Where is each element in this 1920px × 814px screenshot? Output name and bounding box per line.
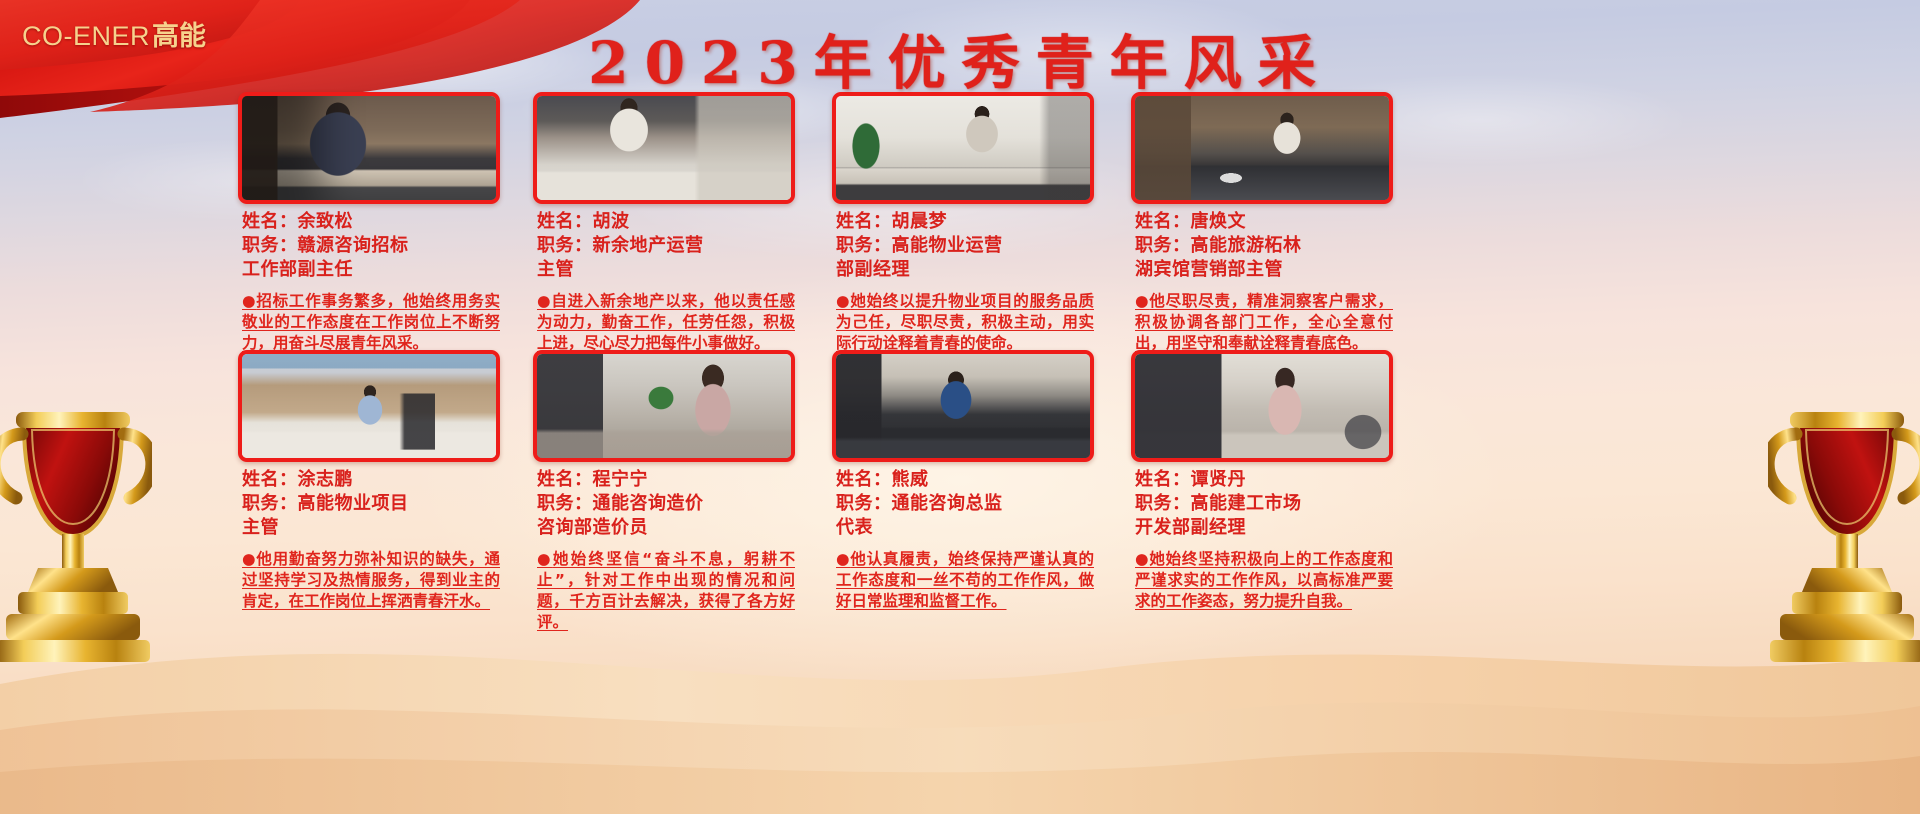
label-name-8: 姓名： — [1135, 469, 1191, 490]
profile-photo-2 — [533, 92, 795, 204]
page-title: 2023年优秀青年风采 — [470, 16, 1450, 100]
value-name-2: 胡波 — [593, 211, 630, 232]
profile-name-line-1: 姓名：余致松 — [242, 210, 500, 234]
profile-photo-8 — [1131, 350, 1393, 462]
profile-position-line-7b: 代表 — [836, 516, 1094, 540]
bullet-8: ● — [1135, 550, 1149, 568]
profile-description-text-7: 他认真履责，始终保持严谨认真的工作态度和一丝不苟的工作作风，做好日常监理和监督工… — [836, 550, 1094, 610]
value-name-6: 程宁宁 — [593, 469, 649, 490]
value-name-3: 胡晨梦 — [892, 211, 948, 232]
value-position-4a: 高能旅游柘林 — [1191, 235, 1302, 256]
profile-description-text-6: 她始终坚信“奋斗不息，躬耕不止”，针对工作中出现的情况和问题，千方百计去解决，获… — [537, 550, 795, 631]
profile-card-1[interactable]: 姓名：余致松 职务：赣源咨询招标 工作部副主任 ●招标工作事务繁多，他始终用务实… — [238, 92, 500, 354]
label-name-1: 姓名： — [242, 211, 298, 232]
profile-card-5[interactable]: 姓名：涂志鹏 职务：高能物业项目 主管 ●他用勤奋努力弥补知识的缺失，通过坚持学… — [238, 350, 500, 612]
profile-position-line-2a: 职务：新余地产运营 — [537, 234, 795, 258]
profile-description-2: ●自进入新余地产以来，他以责任感为动力，勤奋工作，任劳任怨，积极上进，尽心尽力把… — [533, 291, 795, 354]
profile-name-line-6: 姓名：程宁宁 — [537, 468, 795, 492]
profile-photo-3 — [832, 92, 1094, 204]
label-position-5: 职务： — [242, 493, 298, 514]
value-position-7a: 通能咨询总监 — [892, 493, 1003, 514]
label-name-7: 姓名： — [836, 469, 892, 490]
profile-description-4: ●他尽职尽责，精准洞察客户需求，积极协调各部门工作，全心全意付出，用坚守和奉献诠… — [1131, 291, 1393, 354]
value-name-7: 熊威 — [892, 469, 929, 490]
profile-photo-5 — [238, 350, 500, 462]
brand-logo-cn: 高能 — [152, 21, 206, 51]
profile-description-text-2: 自进入新余地产以来，他以责任感为动力，勤奋工作，任劳任怨，积极上进，尽心尽力把每… — [537, 292, 795, 352]
brand-logo: CO-ENER高能 — [22, 14, 206, 53]
profile-name-line-2: 姓名：胡波 — [537, 210, 795, 234]
profile-name-line-7: 姓名：熊威 — [836, 468, 1094, 492]
profile-description-6: ●她始终坚信“奋斗不息，躬耕不止”，针对工作中出现的情况和问题，千方百计去解决，… — [533, 549, 795, 633]
profile-position-line-4b: 湖宾馆营销部主管 — [1135, 258, 1393, 282]
profile-description-text-3: 她始终以提升物业项目的服务品质为己任，尽职尽责，积极主动，用实际行动诠释着青春的… — [836, 292, 1094, 352]
label-position-6: 职务： — [537, 493, 593, 514]
label-name-3: 姓名： — [836, 211, 892, 232]
profile-description-text-5: 他用勤奋努力弥补知识的缺失，通过坚持学习及热情服务，得到业主的肯定，在工作岗位上… — [242, 550, 500, 610]
profile-description-3: ●她始终以提升物业项目的服务品质为己任，尽职尽责，积极主动，用实际行动诠释着青春… — [832, 291, 1094, 354]
profile-position-line-3a: 职务：高能物业运营 — [836, 234, 1094, 258]
profile-photo-6 — [533, 350, 795, 462]
label-position-2: 职务： — [537, 235, 593, 256]
profile-description-text-4: 他尽职尽责，精准洞察客户需求，积极协调各部门工作，全心全意付出，用坚守和奉献诠释… — [1135, 292, 1393, 352]
value-position-8a: 高能建工市场 — [1191, 493, 1302, 514]
brand-logo-latin: CO-ENER — [22, 21, 150, 51]
label-position-3: 职务： — [836, 235, 892, 256]
profile-card-2[interactable]: 姓名：胡波 职务：新余地产运营 主管 ●自进入新余地产以来，他以责任感为动力，勤… — [533, 92, 795, 354]
label-position-1: 职务： — [242, 235, 298, 256]
bullet-3: ● — [836, 292, 850, 310]
profile-photo-7 — [832, 350, 1094, 462]
profile-description-8: ●她始终坚持积极向上的工作态度和严谨求实的工作作风，以高标准严要求的工作姿态，努… — [1131, 549, 1393, 612]
label-name-6: 姓名： — [537, 469, 593, 490]
profile-card-6[interactable]: 姓名：程宁宁 职务：通能咨询造价 咨询部造价员 ●她始终坚信“奋斗不息，躬耕不止… — [533, 350, 795, 633]
profile-position-line-6a: 职务：通能咨询造价 — [537, 492, 795, 516]
profile-position-line-3b: 部副经理 — [836, 258, 1094, 282]
profile-fields-2: 姓名：胡波 职务：新余地产运营 主管 — [533, 210, 795, 282]
bullet-5: ● — [242, 550, 256, 568]
profile-position-line-8a: 职务：高能建工市场 — [1135, 492, 1393, 516]
profile-name-line-3: 姓名：胡晨梦 — [836, 210, 1094, 234]
profile-description-7: ●他认真履责，始终保持严谨认真的工作态度和一丝不苟的工作作风，做好日常监理和监督… — [832, 549, 1094, 612]
profile-card-7[interactable]: 姓名：熊威 职务：通能咨询总监 代表 ●他认真履责，始终保持严谨认真的工作态度和… — [832, 350, 1094, 612]
profile-fields-8: 姓名：谭贤丹 职务：高能建工市场 开发部副经理 — [1131, 468, 1393, 540]
profile-photo-4 — [1131, 92, 1393, 204]
profile-position-line-1a: 职务：赣源咨询招标 — [242, 234, 500, 258]
profile-position-line-1b: 工作部副主任 — [242, 258, 500, 282]
profile-position-line-5b: 主管 — [242, 516, 500, 540]
label-name-2: 姓名： — [537, 211, 593, 232]
profile-fields-3: 姓名：胡晨梦 职务：高能物业运营 部副经理 — [832, 210, 1094, 282]
label-name-4: 姓名： — [1135, 211, 1191, 232]
profile-fields-4: 姓名：唐焕文 职务：高能旅游柘林 湖宾馆营销部主管 — [1131, 210, 1393, 282]
value-position-6a: 通能咨询造价 — [593, 493, 704, 514]
label-position-4: 职务： — [1135, 235, 1191, 256]
profile-fields-5: 姓名：涂志鹏 职务：高能物业项目 主管 — [238, 468, 500, 540]
value-name-4: 唐焕文 — [1191, 211, 1247, 232]
profile-photo-1 — [238, 92, 500, 204]
value-name-5: 涂志鹏 — [298, 469, 354, 490]
label-position-8: 职务： — [1135, 493, 1191, 514]
value-position-5a: 高能物业项目 — [298, 493, 409, 514]
profile-position-line-2b: 主管 — [537, 258, 795, 282]
profile-fields-6: 姓名：程宁宁 职务：通能咨询造价 咨询部造价员 — [533, 468, 795, 540]
bullet-7: ● — [836, 550, 850, 568]
value-name-8: 谭贤丹 — [1191, 469, 1247, 490]
label-name-5: 姓名： — [242, 469, 298, 490]
profile-position-line-6b: 咨询部造价员 — [537, 516, 795, 540]
profile-card-4[interactable]: 姓名：唐焕文 职务：高能旅游柘林 湖宾馆营销部主管 ●他尽职尽责，精准洞察客户需… — [1131, 92, 1393, 354]
profile-description-text-1: 招标工作事务繁多，他始终用务实敬业的工作态度在工作岗位上不断努力，用奋斗尽展青年… — [242, 292, 500, 352]
bullet-2: ● — [537, 292, 551, 310]
profile-card-8[interactable]: 姓名：谭贤丹 职务：高能建工市场 开发部副经理 ●她始终坚持积极向上的工作态度和… — [1131, 350, 1393, 612]
value-name-1: 余致松 — [298, 211, 354, 232]
profile-name-line-5: 姓名：涂志鹏 — [242, 468, 500, 492]
label-position-7: 职务： — [836, 493, 892, 514]
profile-position-line-4a: 职务：高能旅游柘林 — [1135, 234, 1393, 258]
profile-name-line-8: 姓名：谭贤丹 — [1135, 468, 1393, 492]
profile-description-text-8: 她始终坚持积极向上的工作态度和严谨求实的工作作风，以高标准严要求的工作姿态，努力… — [1135, 550, 1393, 610]
profile-fields-7: 姓名：熊威 职务：通能咨询总监 代表 — [832, 468, 1094, 540]
bullet-4: ● — [1135, 292, 1149, 310]
profile-position-line-5a: 职务：高能物业项目 — [242, 492, 500, 516]
profile-card-grid: 姓名：余致松 职务：赣源咨询招标 工作部副主任 ●招标工作事务繁多，他始终用务实… — [0, 92, 1920, 732]
profile-fields-1: 姓名：余致松 职务：赣源咨询招标 工作部副主任 — [238, 210, 500, 282]
value-position-3a: 高能物业运营 — [892, 235, 1003, 256]
value-position-2a: 新余地产运营 — [593, 235, 704, 256]
profile-position-line-7a: 职务：通能咨询总监 — [836, 492, 1094, 516]
bullet-1: ● — [242, 292, 256, 310]
profile-name-line-4: 姓名：唐焕文 — [1135, 210, 1393, 234]
value-position-1a: 赣源咨询招标 — [298, 235, 409, 256]
profile-card-3[interactable]: 姓名：胡晨梦 职务：高能物业运营 部副经理 ●她始终以提升物业项目的服务品质为己… — [832, 92, 1094, 354]
bullet-6: ● — [537, 550, 553, 568]
profile-description-1: ●招标工作事务繁多，他始终用务实敬业的工作态度在工作岗位上不断努力，用奋斗尽展青… — [238, 291, 500, 354]
profile-description-5: ●他用勤奋努力弥补知识的缺失，通过坚持学习及热情服务，得到业主的肯定，在工作岗位… — [238, 549, 500, 612]
profile-position-line-8b: 开发部副经理 — [1135, 516, 1393, 540]
